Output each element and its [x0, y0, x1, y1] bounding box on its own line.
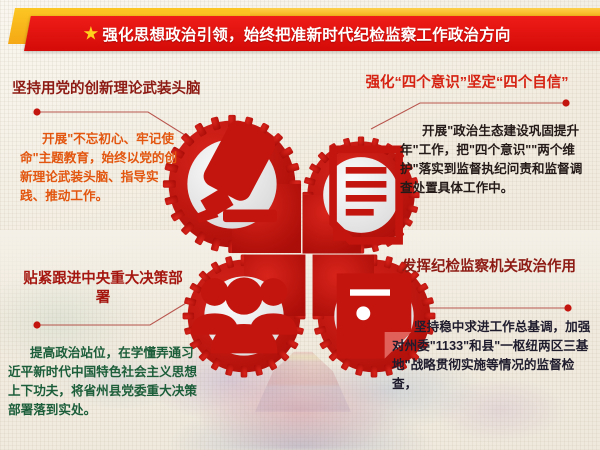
banner-title: 强化思想政治引领，始终把准新时代纪检监察工作政治方向	[0, 17, 594, 50]
heading-top-right: 强化“四个意识”坚定“四个自信”	[338, 74, 596, 93]
banner-title-text: 强化思想政治引领，始终把准新时代纪检监察工作政治方向	[102, 23, 510, 45]
slide-canvas: 强化思想政治引领，始终把准新时代纪检监察工作政治方向	[0, 0, 600, 450]
heading-top-left: 坚持用党的创新理论武装头脑	[12, 80, 262, 99]
body-bottom-left: 提高政治站位，在学懂弄通习近平新时代中国特色社会主义思想上下功夫，将省州县党委重…	[8, 344, 202, 421]
body-top-left: 开展"不忘初心、牢记使命"主题教育，始终以党的创新理论武装头脑、指导实践、推动工…	[20, 130, 182, 207]
heading-bottom-right: 发挥纪检监察机关政治作用	[402, 258, 598, 277]
body-top-right: 开展"政治生态建设巩固提升年"工作，把"四个意识""两个维护"落实到监督执纪问责…	[400, 122, 592, 199]
star-icon	[83, 26, 98, 41]
body-bottom-right: 坚持稳中求进工作总基调，加强对州委"1133"和县"一枢纽两区三基地"战略贯彻实…	[392, 318, 594, 395]
heading-bottom-left: 贴紧跟进中央重大决策部署	[18, 270, 188, 308]
